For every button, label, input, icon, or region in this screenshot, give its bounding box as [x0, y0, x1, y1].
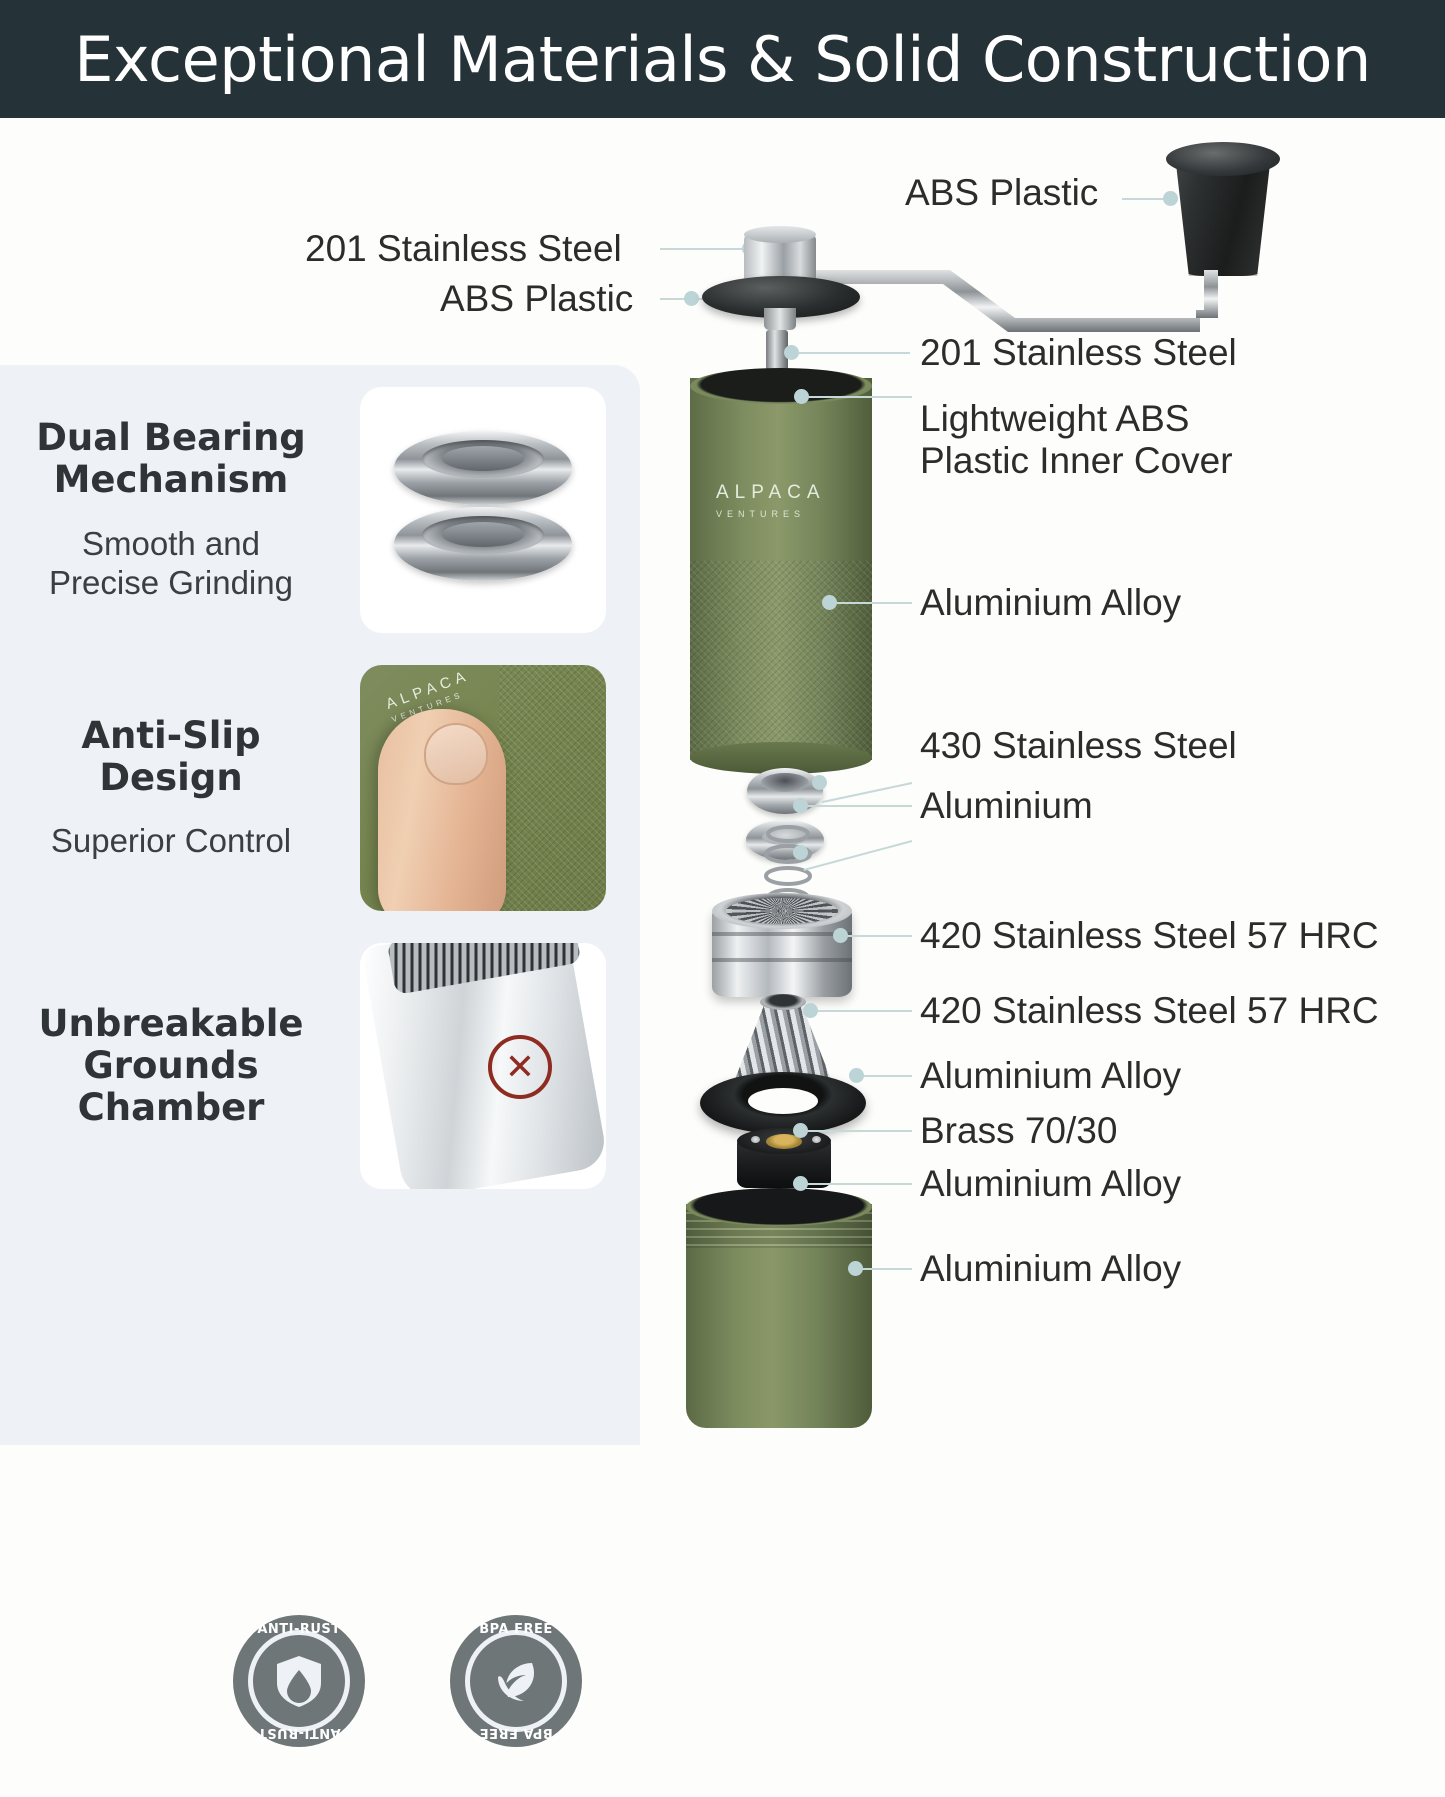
leader-dot-washer: [793, 798, 808, 813]
feature-title-line1: Unbreakable: [38, 1002, 303, 1045]
callout-abs-plastic-knob: ABS Plastic: [905, 172, 1098, 214]
leader-line-puck: [800, 1183, 912, 1185]
callout-text: 420 Stainless Steel 57 HRC: [920, 990, 1379, 1031]
badge-label-bottom: BPA FREE: [450, 1725, 582, 1740]
crank-arm-part: [800, 262, 1220, 338]
prohibited-x-icon: ✕: [488, 1035, 552, 1099]
callout-text: 201 Stainless Steel: [305, 228, 622, 269]
leader-dot-body: [822, 595, 837, 610]
bearing-part: [747, 768, 823, 814]
leader-dot-bearing: [812, 775, 827, 790]
feature-text: Anti-Slip Design Superior Control: [0, 715, 360, 861]
broken-glass-jar-photo: ✕: [360, 943, 606, 1189]
burr-band: [712, 958, 852, 962]
feature-title: Anti-Slip Design: [0, 715, 342, 799]
feature-title-line2: Grounds: [83, 1044, 258, 1087]
leaf-circle-icon: [474, 1639, 558, 1723]
feature-subtitle-line1: Superior Control: [51, 822, 291, 859]
leader-line-seal-ring: [856, 1075, 912, 1077]
badge-label-top: BPA FREE: [450, 1622, 582, 1637]
leader-dot-puck: [793, 1176, 808, 1191]
badge-label-bottom: ANTI-RUST: [233, 1725, 365, 1740]
grinder-body-upper: [690, 378, 872, 578]
leader-line-inner-cover: [800, 396, 912, 398]
feature-unbreakable-chamber: Unbreakable Grounds Chamber ✕: [0, 943, 640, 1189]
leader-dot-spring: [793, 845, 808, 860]
callout-text: ABS Plastic: [440, 278, 633, 319]
ball-bearing-upper-icon: [394, 431, 572, 505]
leader-line-brass: [800, 1130, 912, 1132]
brand-tagline: VENTURES: [716, 509, 826, 519]
leader-line-cup: [855, 1268, 912, 1270]
feature-anti-slip: Anti-Slip Design Superior Control ALPACA…: [0, 665, 640, 911]
callout-text: Aluminium: [920, 785, 1093, 826]
callout-text-line2: Plastic Inner Cover: [920, 440, 1233, 481]
feature-dual-bearing: Dual Bearing Mechanism Smooth and Precis…: [0, 387, 640, 633]
callout-text: 201 Stainless Steel: [920, 332, 1237, 373]
leader-dot-knob: [1163, 191, 1178, 206]
feature-title-line2: Mechanism: [54, 458, 289, 501]
black-seal-ring-hole: [748, 1088, 818, 1114]
feature-title-line3: Chamber: [78, 1086, 265, 1129]
leader-dot-cup: [848, 1261, 863, 1276]
callout-201-stainless-steel-shaft: 201 Stainless Steel: [920, 332, 1237, 374]
leader-line-cone-burr: [810, 1010, 912, 1012]
callout-text: Aluminium Alloy: [920, 582, 1181, 623]
callout-text: 430 Stainless Steel: [920, 725, 1237, 766]
conical-burr-top: [760, 994, 806, 1010]
callout-brass-70-30: Brass 70/30: [920, 1110, 1117, 1152]
bearings-image-card: [360, 387, 606, 633]
grounds-cup-rim: [686, 1188, 872, 1226]
knurl-texture: [498, 665, 606, 911]
callout-aluminium-alloy-seal-ring: Aluminium Alloy: [920, 1055, 1181, 1097]
page-title: Exceptional Materials & Solid Constructi…: [74, 23, 1371, 96]
leader-line-body: [830, 602, 912, 604]
leader-dot-cone-burr: [803, 1003, 818, 1018]
certification-badges: ANTI-RUST ANTI-RUST BPA FREE BPA FREE: [0, 1597, 640, 1797]
anti-slip-image-card: ALPACAVENTURES: [360, 665, 606, 911]
callout-430-stainless-steel: 430 Stainless Steel: [920, 725, 1237, 767]
feature-subtitle: Smooth and Precise Grinding: [0, 524, 342, 603]
grinder-body-knurled: [690, 560, 872, 760]
puck-screw-left: [751, 1136, 760, 1143]
crank-knob-cap: [1166, 142, 1280, 176]
feature-title-line1: Anti-Slip: [81, 714, 260, 757]
alpaca-brand-logo: ALPACA VENTURES: [716, 482, 826, 519]
callout-text: ABS Plastic: [905, 172, 1098, 213]
callout-text: Brass 70/30: [920, 1110, 1117, 1151]
ball-bearing-lower-icon: [394, 507, 572, 581]
leader-line-washer: [800, 805, 912, 807]
header-bar: Exceptional Materials & Solid Constructi…: [0, 0, 1445, 118]
thumb-icon: [378, 709, 506, 911]
feature-subtitle-line1: Smooth and: [82, 525, 260, 562]
callout-201-stainless-steel-collar: 201 Stainless Steel: [305, 228, 622, 270]
callout-abs-inner-cover: Lightweight ABS Plastic Inner Cover: [920, 398, 1320, 482]
feature-title-line2: Design: [99, 756, 242, 799]
leader-line-outer-burr: [840, 935, 912, 937]
callout-text: 420 Stainless Steel 57 HRC: [920, 915, 1379, 956]
callout-abs-plastic-disc: ABS Plastic: [440, 278, 633, 320]
features-sidebar: Dual Bearing Mechanism Smooth and Precis…: [0, 365, 640, 1445]
feature-text: Unbreakable Grounds Chamber: [0, 1003, 360, 1130]
leader-dot-brass: [793, 1123, 808, 1138]
leader-dot-shaft: [784, 345, 799, 360]
badge-label-top: ANTI-RUST: [233, 1622, 365, 1637]
thumbnail-shape: [424, 723, 488, 785]
callout-420-stainless-outer-burr: 420 Stainless Steel 57 HRC: [920, 915, 1379, 957]
feature-subtitle: Superior Control: [0, 821, 342, 861]
badge-bpa-free: BPA FREE BPA FREE: [450, 1615, 582, 1747]
feature-subtitle-line2: Precise Grinding: [49, 564, 293, 601]
callout-aluminium-alloy-puck: Aluminium Alloy: [920, 1163, 1181, 1205]
callout-text: Aluminium Alloy: [920, 1163, 1181, 1204]
leader-dot-seal-ring: [849, 1068, 864, 1083]
grinder-body-rim: [690, 368, 872, 404]
shield-droplet-icon: [257, 1639, 341, 1723]
callout-aluminium-alloy-body: Aluminium Alloy: [920, 582, 1181, 624]
feature-title: Dual Bearing Mechanism: [0, 417, 342, 501]
feature-title: Unbreakable Grounds Chamber: [0, 1003, 342, 1130]
disc-stub: [764, 308, 796, 330]
callout-text: Aluminium Alloy: [920, 1248, 1181, 1289]
brand-name: ALPACA: [716, 482, 826, 503]
glass-jar-image-card: ✕: [360, 943, 606, 1189]
leader-dot-inner-cover: [794, 389, 809, 404]
callout-text: Aluminium Alloy: [920, 1055, 1181, 1096]
callout-aluminium-washer: Aluminium: [920, 785, 1093, 827]
badge-anti-rust: ANTI-RUST ANTI-RUST: [233, 1615, 365, 1747]
knurled-surface-photo: ALPACAVENTURES: [360, 665, 606, 911]
callout-aluminium-alloy-cup: Aluminium Alloy: [920, 1248, 1181, 1290]
puck-screw-right: [812, 1136, 821, 1143]
feature-text: Dual Bearing Mechanism Smooth and Precis…: [0, 417, 360, 603]
leader-dot-outer-burr: [833, 928, 848, 943]
outer-burr-teeth: [726, 898, 838, 924]
feature-title-line1: Dual Bearing: [36, 416, 306, 459]
burr-band: [712, 932, 852, 936]
callout-420-stainless-cone-burr: 420 Stainless Steel 57 HRC: [920, 990, 1379, 1032]
leader-line-shaft: [790, 352, 910, 354]
callout-text-line1: Lightweight ABS: [920, 398, 1189, 439]
